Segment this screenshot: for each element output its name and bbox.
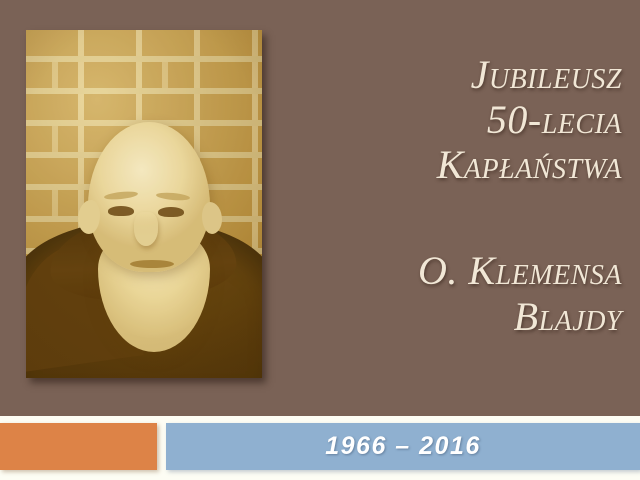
friar-nose: [134, 212, 158, 246]
friar-eye-left: [108, 206, 134, 216]
title-line-1: Jubileusz: [286, 52, 622, 97]
slide-footer: 1966 – 2016: [0, 416, 640, 480]
presentation-slide: Jubileusz 50-lecia Kapłaństwa O. Klemens…: [0, 0, 640, 480]
friar-mouth: [130, 260, 174, 268]
slide-subtitle: O. Klemensa Blajdy: [286, 248, 622, 340]
photo-image: [26, 30, 262, 378]
friar-eye-right: [158, 207, 184, 217]
title-line-2: 50-lecia: [286, 97, 622, 142]
title-line-3: Kapłaństwa: [286, 142, 622, 187]
subtitle-line-2: Blajdy: [286, 294, 622, 340]
slide-title: Jubileusz 50-lecia Kapłaństwa: [286, 52, 622, 188]
subtitle-line-1: O. Klemensa: [286, 248, 622, 294]
footer-accent-block: [0, 423, 157, 470]
footer-date-band: 1966 – 2016: [166, 423, 640, 470]
friar-portrait-photo[interactable]: [26, 30, 262, 378]
date-range-text: 1966 – 2016: [325, 432, 481, 461]
